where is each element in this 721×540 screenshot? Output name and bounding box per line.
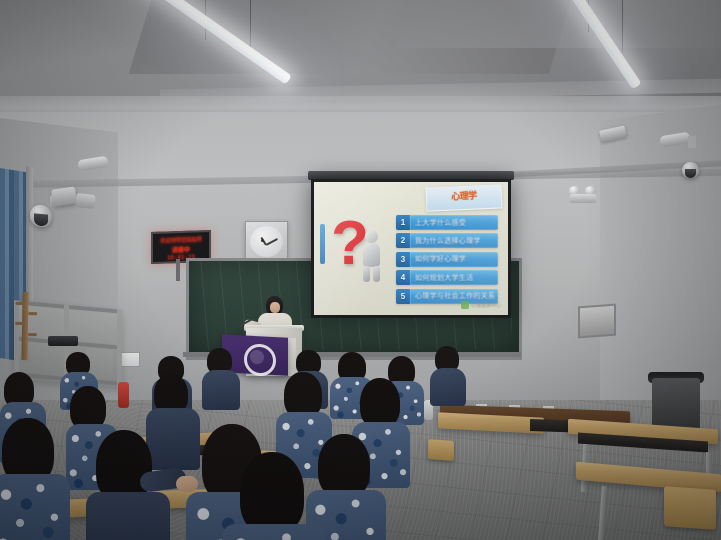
ceiling-beam-secondary bbox=[396, 0, 721, 48]
wall-speaker-left-2 bbox=[75, 193, 95, 209]
wall-speaker-left bbox=[51, 186, 77, 206]
figure-body bbox=[363, 243, 380, 267]
water-bottle-red[interactable] bbox=[118, 382, 129, 408]
figure-head bbox=[365, 230, 378, 243]
projection-screen: 心理学 ? 1 上大学什么感受 2 我为什么选择心理学 bbox=[311, 179, 511, 318]
figure-leg-right bbox=[373, 266, 380, 282]
emergency-light bbox=[568, 186, 598, 202]
classroom-photo: 欢迎领导莅临指导 讲座中 10:41:23 心理学 ? bbox=[0, 0, 721, 540]
slide-logo: 心理健康中心 bbox=[461, 301, 501, 309]
slide-title-text: 心理学 bbox=[427, 187, 502, 204]
light-hanger-wire bbox=[622, 0, 623, 52]
clock-minute-hand bbox=[266, 238, 278, 246]
coat-rack bbox=[21, 292, 28, 360]
chair-right bbox=[664, 486, 716, 530]
list-item-label: 上大学什么感受 bbox=[410, 215, 498, 230]
slide-title-banner: 心理学 bbox=[426, 184, 503, 211]
clock-face bbox=[250, 226, 283, 257]
list-item-label: 我为什么选择心理学 bbox=[410, 233, 498, 248]
list-item: 3 如何学好心理学 bbox=[396, 252, 498, 267]
led-line-2: 讲座中 bbox=[153, 244, 209, 255]
slide-agenda-list: 1 上大学什么感受 2 我为什么选择心理学 3 如何学好心理学 4 如何规划大学… bbox=[396, 215, 498, 307]
list-item-number: 1 bbox=[396, 215, 410, 230]
led-display-mount bbox=[176, 259, 180, 281]
trash-bin bbox=[652, 378, 700, 430]
figure-leg-left bbox=[363, 266, 370, 282]
presentation-slide: 心理学 ? 1 上大学什么感受 2 我为什么选择心理学 bbox=[314, 182, 508, 315]
projector-device bbox=[48, 336, 78, 346]
banner-emblem-inner bbox=[250, 350, 264, 365]
slide-logo-text: 心理健康中心 bbox=[471, 302, 501, 309]
list-item: 1 上大学什么感受 bbox=[396, 215, 498, 230]
list-item: 4 如何规划大学生活 bbox=[396, 270, 498, 285]
wall-panel-right bbox=[578, 304, 616, 339]
figure-illustration bbox=[362, 230, 381, 282]
list-item-label: 如何学好心理学 bbox=[410, 252, 498, 267]
clock-center-pin bbox=[261, 239, 264, 242]
bullet-camera-right-mount bbox=[688, 136, 696, 148]
list-item: 2 我为什么选择心理学 bbox=[396, 233, 498, 248]
list-item-number: 2 bbox=[396, 233, 410, 248]
list-item-number: 4 bbox=[396, 270, 410, 285]
student-hand bbox=[176, 476, 198, 492]
list-item-number: 5 bbox=[396, 289, 410, 304]
chair-mid bbox=[428, 439, 454, 461]
logo-mark-icon bbox=[461, 301, 469, 309]
list-item-label: 如何规划大学生活 bbox=[410, 270, 498, 285]
wall-clock bbox=[245, 221, 288, 262]
presenter-face bbox=[270, 302, 280, 313]
slide-accent-bar bbox=[320, 224, 325, 264]
list-item-number: 3 bbox=[396, 252, 410, 267]
